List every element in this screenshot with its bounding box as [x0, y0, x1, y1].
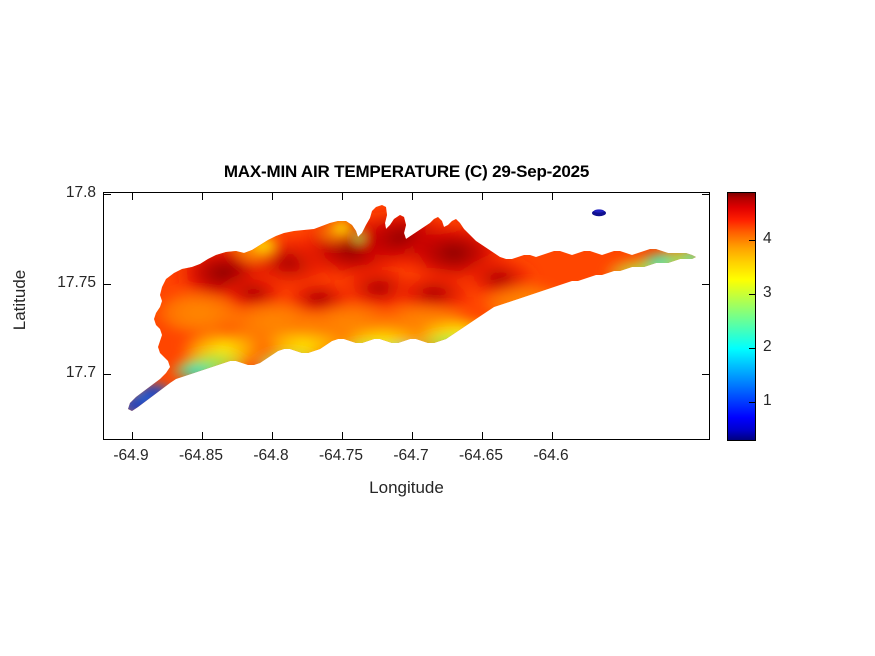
ytick-mark — [104, 284, 111, 285]
matlab-figure: MAX-MIN AIR TEMPERATURE (C) 29-Sep-2025 — [0, 0, 875, 656]
ytick-label: 17.7 — [66, 364, 96, 382]
page-title: MAX-MIN AIR TEMPERATURE (C) 29-Sep-2025 — [103, 162, 710, 182]
xtick-mark-top — [412, 193, 413, 200]
ytick-mark — [104, 194, 111, 195]
xtick-mark-top — [202, 193, 203, 200]
xtick-mark-top — [482, 193, 483, 200]
ytick-mark-right — [702, 374, 709, 375]
colorbar-tick — [749, 348, 755, 349]
colorbar-tick — [749, 240, 755, 241]
xtick-mark-top — [272, 193, 273, 200]
ytick-mark-right — [702, 194, 709, 195]
map-axes[interactable] — [103, 192, 710, 440]
colorbar-tick — [749, 294, 755, 295]
ytick-mark — [104, 374, 111, 375]
xtick-mark — [552, 432, 553, 439]
xtick-mark — [272, 432, 273, 439]
xtick-label: -64.75 — [319, 447, 363, 465]
xtick-label: -64.85 — [179, 447, 223, 465]
xtick-mark — [202, 432, 203, 439]
xtick-mark — [412, 432, 413, 439]
xtick-mark-top — [132, 193, 133, 200]
xtick-label: -64.6 — [533, 447, 568, 465]
ytick-label: 17.75 — [57, 274, 96, 292]
xtick-mark-top — [552, 193, 553, 200]
temperature-heatmap — [104, 193, 709, 439]
colorbar-tick — [749, 402, 755, 403]
x-axis-label: Longitude — [103, 478, 710, 498]
xtick-label: -64.9 — [113, 447, 148, 465]
y-axis-label: Latitude — [10, 250, 30, 350]
colorbar[interactable] — [727, 192, 756, 441]
xtick-mark-top — [342, 193, 343, 200]
map-canvas — [104, 193, 709, 439]
ytick-mark-right — [702, 284, 709, 285]
colorbar-label: 3 — [763, 284, 772, 302]
xtick-mark — [132, 432, 133, 439]
xtick-mark — [342, 432, 343, 439]
colorbar-label: 4 — [763, 230, 772, 248]
xtick-label: -64.65 — [459, 447, 503, 465]
offshore-cay-marker — [592, 209, 606, 216]
xtick-label: -64.7 — [393, 447, 428, 465]
colorbar-label: 2 — [763, 338, 772, 356]
xtick-label: -64.8 — [253, 447, 288, 465]
xtick-mark — [482, 432, 483, 439]
colorbar-label: 1 — [763, 392, 772, 410]
ytick-label: 17.8 — [66, 184, 96, 202]
